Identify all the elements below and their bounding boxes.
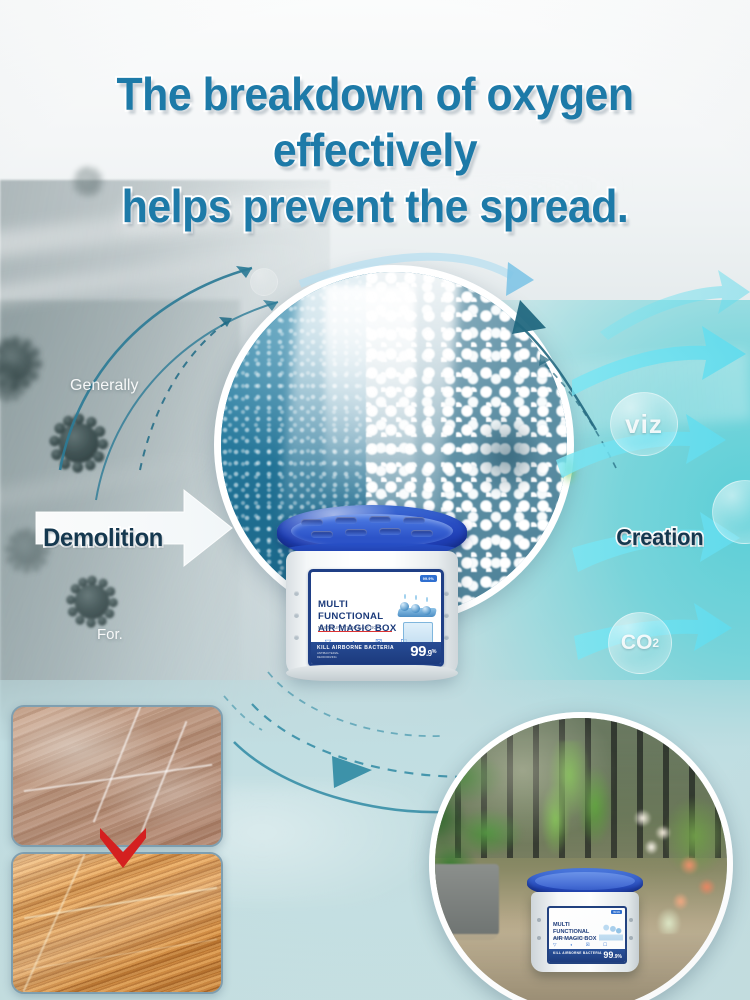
page-title: The breakdown of oxygen effectively help… — [26, 66, 724, 234]
inset-wood-after — [11, 852, 223, 994]
percent-sign: % — [432, 649, 436, 655]
gloss-overlay — [13, 854, 221, 992]
product-front-label: 99.9% MULTI FUNCTIONAL AIR MAGIC BOX MUL… — [308, 569, 444, 667]
red-down-arrow — [96, 826, 150, 870]
photo-sunlight-overlay — [435, 718, 727, 1000]
bubble-co2-label: CO — [621, 631, 653, 655]
product-air-magic-box: 99.9% MULTI FUNCTIONAL AIR MAGIC BOX MUL… — [277, 505, 467, 685]
inset-balcony-photo: 99.9% MULTI FUNCTIONAL AIR MAGIC BOX MUL… — [429, 712, 733, 1000]
label-illustration — [396, 592, 438, 648]
mist-spray-core — [325, 286, 415, 535]
illustration-bead — [422, 606, 431, 615]
illustration-bead — [411, 604, 420, 613]
label-badge: 99.9% — [420, 575, 437, 582]
label-for: For. — [97, 626, 123, 643]
promo-poster: 99.9% MULTI FUNCTIONAL AIR MAGIC BOX MUL… — [0, 0, 750, 1000]
decorative-bubble — [250, 268, 278, 296]
label-demolition: Demolition — [43, 524, 163, 553]
label-subtitle: MULTIFUNCTIONAL AIR BOX — [318, 625, 392, 632]
percent-int: 99 — [410, 643, 426, 660]
product-base — [286, 665, 458, 681]
illustration-bead — [400, 602, 409, 611]
label-generally: Generally — [70, 377, 138, 395]
bead-shadow — [463, 403, 553, 507]
product-body: 99.9% MULTI FUNCTIONAL AIR MAGIC BOX MUL… — [286, 551, 458, 677]
claim-subtext: ANTIBACTERIAL DEODORIZING — [317, 652, 339, 659]
bubble-co2: CO2 — [608, 612, 672, 674]
bubble-viz-label: viz — [625, 409, 663, 440]
illustration-box — [403, 622, 433, 644]
claim-percent: 99.9% — [410, 644, 436, 662]
bubble-viz: viz — [610, 392, 678, 456]
label-claim-band: KILL AIRBORNE BACTERIA ANTIBACTERIAL DEO… — [311, 642, 441, 664]
background-contaminated-haze — [0, 300, 240, 720]
label-creation: Creation — [616, 524, 703, 551]
bubble-co2-subscript: 2 — [652, 636, 659, 650]
circle-green-accent — [561, 452, 577, 486]
